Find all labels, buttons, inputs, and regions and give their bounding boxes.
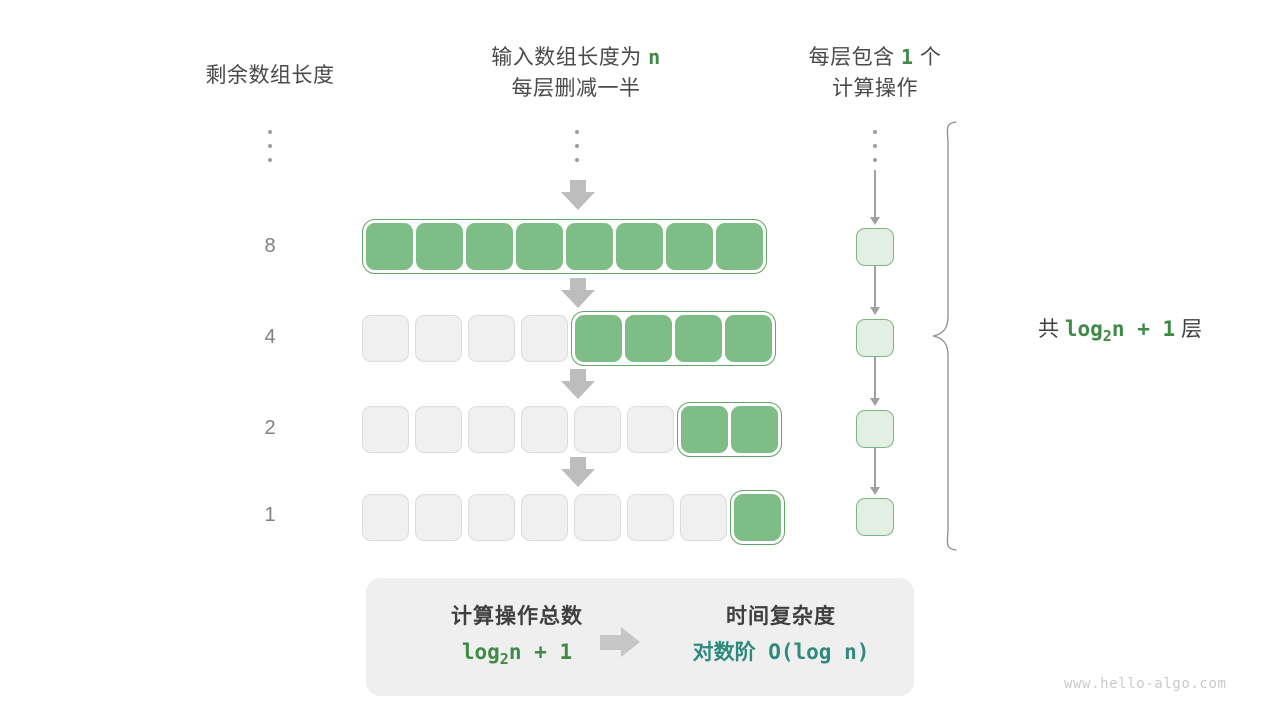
header-operations-line1-suffix: 个: [914, 46, 942, 69]
formula-base: 2: [500, 650, 509, 668]
down-arrow-icon: [561, 180, 595, 210]
right-arrow-head: [621, 627, 640, 657]
levels-brace-formula: log2n + 1: [1065, 317, 1175, 341]
array-cell-active: [566, 223, 613, 270]
formula-log: log: [462, 640, 500, 664]
levels-brace-suffix: 层: [1175, 318, 1202, 341]
summary-time-complexity-title: 时间复杂度: [656, 600, 906, 634]
levels-brace-prefix: 共: [1038, 318, 1065, 341]
array-cell-empty: [574, 494, 621, 541]
active-region-highlight: [677, 402, 782, 457]
array-cell-empty: [468, 315, 515, 362]
operation-cell: [856, 410, 894, 448]
header-operations-line1: 每层包含 1 个: [772, 42, 978, 73]
array-row-2: [362, 401, 782, 457]
array-cell-empty: [574, 406, 621, 453]
array-cell-active: [681, 406, 728, 453]
array-row-4: [362, 310, 776, 366]
op-connector-arrowhead: [870, 307, 880, 315]
array-cell-active: [416, 223, 463, 270]
levels-brace-label: 共 log2n + 1 层: [985, 313, 1255, 345]
formula-rest: n + 1: [509, 640, 572, 664]
watermark: www.hello-algo.com: [1064, 676, 1227, 692]
down-arrow-icon: [561, 369, 595, 399]
ellipsis-dot: [575, 144, 579, 148]
ellipsis-dot: [873, 144, 877, 148]
array-cell-empty: [362, 494, 409, 541]
header-input-array: 输入数组长度为 n 每层删减一半: [466, 42, 686, 104]
down-arrow-head: [561, 381, 595, 399]
header-operations-line1-prefix: 每层包含: [809, 46, 901, 69]
op-connector-line: [874, 170, 876, 218]
array-row-8: [362, 218, 767, 274]
array-cell-empty: [680, 494, 727, 541]
ellipsis-dot: [873, 158, 877, 162]
summary-time-complexity-value: 对数阶 O(log n): [656, 634, 906, 670]
down-arrow-head: [561, 469, 595, 487]
op-connector-line: [874, 266, 876, 308]
array-cell-empty: [521, 315, 568, 362]
array-cell-active: [366, 223, 413, 270]
header-input-array-accent: n: [648, 45, 661, 69]
ellipsis-dot: [268, 158, 272, 162]
op-connector-line: [874, 448, 876, 488]
header-operations: 每层包含 1 个 计算操作: [772, 42, 978, 104]
array-cell-empty: [521, 406, 568, 453]
array-cell-empty: [468, 406, 515, 453]
down-arrow-head: [561, 290, 595, 308]
ellipsis-dot: [268, 130, 272, 134]
array-cell-active: [725, 315, 772, 362]
header-input-array-line1-text: 输入数组长度为: [491, 46, 648, 69]
array-cell-active: [675, 315, 722, 362]
header-input-array-line1: 输入数组长度为 n: [466, 42, 686, 73]
op-connector-arrowhead: [870, 398, 880, 406]
summary-time-complexity: 时间复杂度 对数阶 O(log n): [656, 600, 906, 670]
array-cell-active: [666, 223, 713, 270]
header-operations-accent: 1: [901, 45, 914, 69]
array-cell-empty: [468, 494, 515, 541]
array-cell-empty: [521, 494, 568, 541]
ellipsis-right-column: [868, 130, 882, 162]
header-input-array-line2: 每层删减一半: [466, 73, 686, 104]
op-connector-arrowhead: [870, 217, 880, 225]
operation-cell: [856, 319, 894, 357]
array-cell-active: [516, 223, 563, 270]
formula-log: log: [1065, 317, 1103, 341]
array-cell-active: [625, 315, 672, 362]
array-cell-active: [466, 223, 513, 270]
active-region-highlight: [571, 311, 776, 366]
array-cell-empty: [627, 494, 674, 541]
ellipsis-dot: [575, 130, 579, 134]
diagram-canvas: 剩余数组长度 输入数组长度为 n 每层删减一半 每层包含 1 个 计算操作 8 …: [0, 0, 1280, 720]
right-arrow-icon: [600, 627, 646, 657]
formula-base: 2: [1103, 327, 1112, 345]
array-cell-empty: [362, 406, 409, 453]
op-connector-line: [874, 357, 876, 399]
ellipsis-middle-column: [570, 130, 584, 162]
row-label-8: 8: [240, 236, 300, 256]
formula-rest: n + 1: [1112, 317, 1175, 341]
right-arrow-shaft: [600, 635, 622, 650]
operation-cell: [856, 228, 894, 266]
op-connector-arrowhead: [870, 487, 880, 495]
header-remaining-length: 剩余数组长度: [160, 60, 380, 91]
row-label-4: 4: [240, 327, 300, 347]
levels-brace-icon: [930, 120, 970, 552]
down-arrow-head: [561, 192, 595, 210]
array-row-1: [362, 489, 785, 545]
array-cell-empty: [415, 406, 462, 453]
array-cell-active: [575, 315, 622, 362]
array-cell-active: [734, 494, 781, 541]
ellipsis-left-column: [263, 130, 277, 162]
array-cell-active: [716, 223, 763, 270]
ellipsis-dot: [873, 130, 877, 134]
array-cell-active: [616, 223, 663, 270]
down-arrow-icon: [561, 278, 595, 308]
header-remaining-length-text: 剩余数组长度: [206, 64, 335, 87]
down-arrow-icon: [561, 457, 595, 487]
ellipsis-dot: [575, 158, 579, 162]
array-cell-empty: [415, 494, 462, 541]
array-cell-active: [731, 406, 778, 453]
row-label-1: 1: [240, 505, 300, 525]
array-cell-empty: [415, 315, 462, 362]
operation-cell: [856, 498, 894, 536]
ellipsis-dot: [268, 144, 272, 148]
array-cell-empty: [627, 406, 674, 453]
row-label-2: 2: [240, 418, 300, 438]
header-operations-line2: 计算操作: [772, 73, 978, 104]
active-region-highlight: [730, 490, 785, 545]
array-cell-empty: [362, 315, 409, 362]
active-region-highlight: [362, 219, 767, 274]
